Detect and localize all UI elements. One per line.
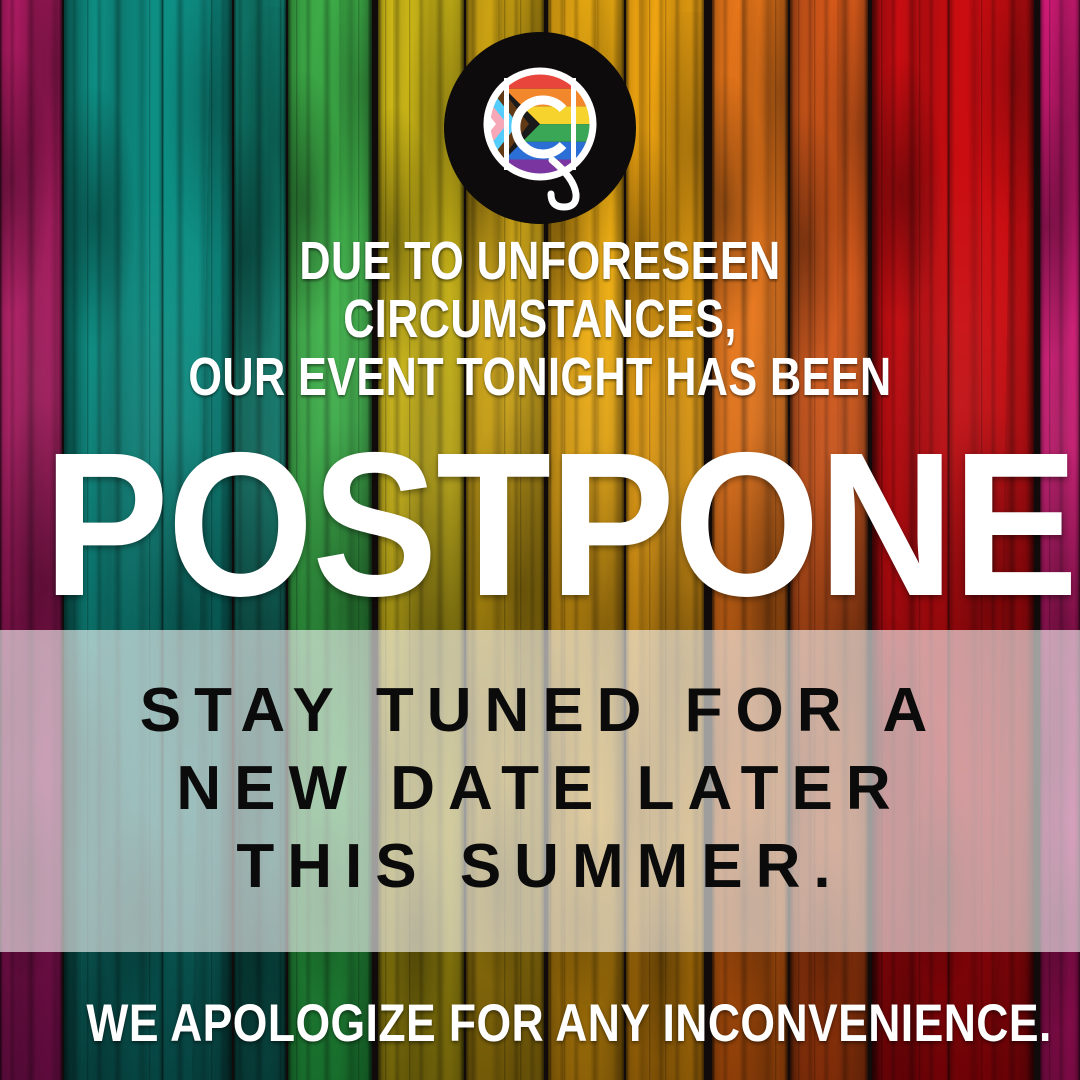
organization-logo[interactable]: [440, 32, 640, 232]
body-text: STAY TUNED FOR A NEW DATE LATER THIS SUM…: [0, 672, 1080, 906]
intro-line-3: OUR EVENT TONIGHT HAS BEEN: [108, 348, 972, 406]
queer-community-circle-logo-icon: [440, 32, 640, 232]
logo-right-bar: [571, 78, 576, 170]
logo-left-bar: [504, 78, 509, 170]
intro-line-1: DUE TO UNFORESEEN: [108, 232, 972, 290]
body-line-2: NEW DATE LATER: [0, 750, 1080, 828]
intro-line-2: CIRCUMSTANCES,: [108, 290, 972, 348]
headline-postponed: POSTPONED: [43, 440, 1037, 610]
body-line-3: THIS SUMMER.: [0, 828, 1080, 906]
postponement-announcement-poster: DUE TO UNFORESEEN CIRCUMSTANCES, OUR EVE…: [0, 0, 1080, 1080]
intro-text: DUE TO UNFORESEEN CIRCUMSTANCES, OUR EVE…: [108, 232, 972, 406]
body-line-1: STAY TUNED FOR A: [0, 672, 1080, 750]
apology-text: WE APOLOGIZE FOR ANY INCONVENIENCE.: [86, 996, 993, 1052]
